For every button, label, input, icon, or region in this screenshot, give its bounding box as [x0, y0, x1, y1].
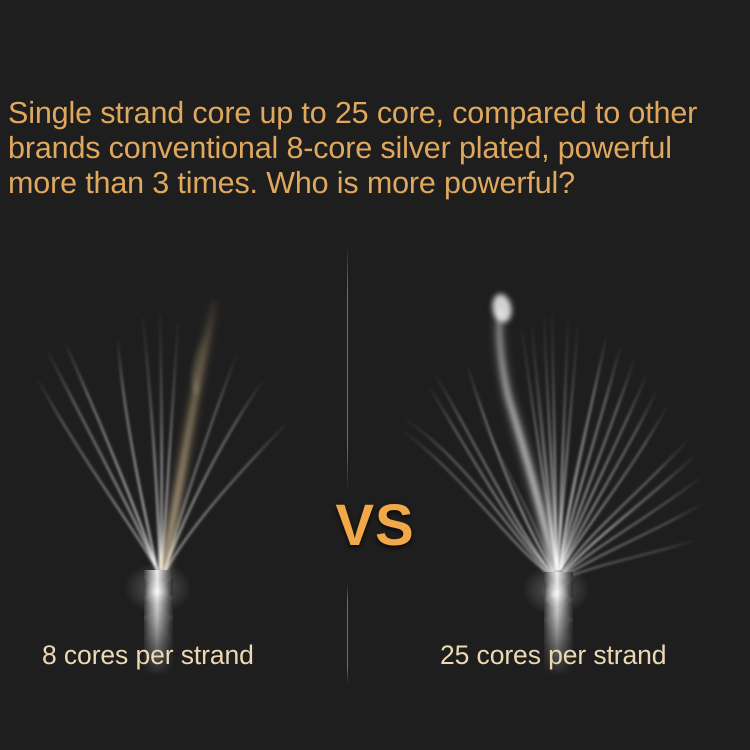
headline-text: Single strand core up to 25 core, compar…	[8, 96, 742, 201]
vertical-divider-top	[347, 248, 348, 488]
right-caption: 25 cores per strand	[440, 640, 666, 670]
product-comparison-image: Single strand core up to 25 core, compar…	[0, 0, 750, 750]
left-cable-fan	[38, 302, 286, 676]
vs-label: VS	[0, 497, 750, 555]
left-caption: 8 cores per strand	[42, 640, 254, 670]
vertical-divider-bottom	[347, 584, 348, 684]
right-cable-fan	[404, 293, 702, 676]
